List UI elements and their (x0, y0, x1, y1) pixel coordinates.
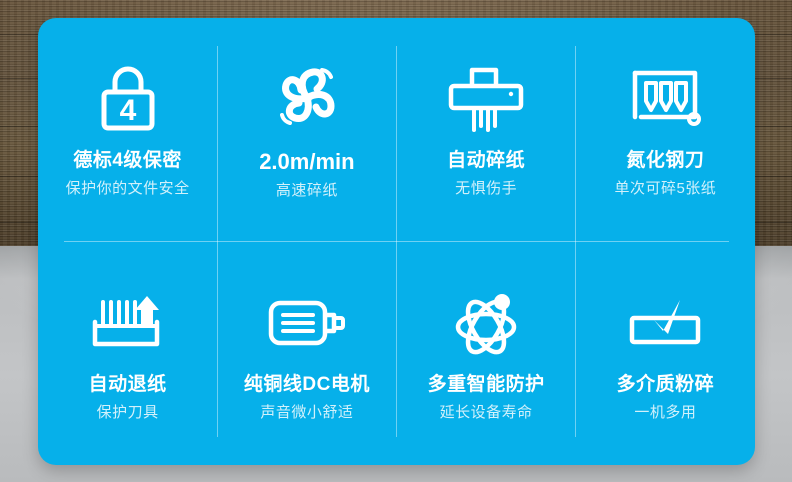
feature-subtitle: 无惧伤手 (455, 180, 517, 198)
lock-level4-icon: 4 (93, 55, 163, 143)
feature-title: 纯铜线DC电机 (244, 373, 370, 397)
feature-cell-blades[interactable]: 氮化钢刀 单次可碎5张纸 (576, 18, 755, 242)
paper-eject-icon (87, 279, 169, 367)
feature-cell-security[interactable]: 4 德标4级保密 保护你的文件安全 (38, 18, 217, 242)
features-panel: 4 德标4级保密 保护你的文件安全 (38, 18, 755, 465)
feature-cell-paper-eject[interactable]: 自动退纸 保护刀具 (38, 242, 217, 466)
feature-banner: 4 德标4级保密 保护你的文件安全 (0, 0, 792, 482)
feature-subtitle: 单次可碎5张纸 (614, 180, 716, 198)
feature-subtitle: 保护刀具 (97, 404, 159, 422)
feature-title: 德标4级保密 (73, 149, 182, 173)
dc-motor-icon (265, 279, 349, 367)
feature-subtitle: 一机多用 (634, 404, 696, 422)
multi-media-slot-icon (624, 279, 706, 367)
feature-cell-protection[interactable]: 多重智能防护 延长设备寿命 (397, 242, 576, 466)
svg-text:4: 4 (119, 94, 136, 127)
feature-title: 多介质粉碎 (617, 373, 715, 397)
feature-subtitle: 保护你的文件安全 (66, 180, 190, 198)
feature-title: 自动退纸 (89, 373, 167, 397)
feature-title: 多重智能防护 (428, 373, 545, 397)
feature-cell-auto-shred[interactable]: 自动碎纸 无惧伤手 (397, 18, 576, 242)
fan-speed-icon (269, 54, 345, 142)
steel-blades-icon (627, 55, 703, 143)
feature-cell-motor[interactable]: 纯铜线DC电机 声音微小舒适 (217, 242, 396, 466)
feature-title: 自动碎纸 (447, 149, 525, 173)
feature-cell-multimedia[interactable]: 多介质粉碎 一机多用 (576, 242, 755, 466)
feature-title: 2.0m/min (259, 148, 354, 176)
feature-cell-speed[interactable]: 2.0m/min 高速碎纸 (217, 18, 396, 242)
feature-title: 氮化钢刀 (626, 149, 704, 173)
grid-divider-horizontal (64, 241, 729, 242)
shredder-icon (445, 55, 527, 143)
feature-subtitle: 高速碎纸 (276, 182, 338, 200)
feature-subtitle: 延长设备寿命 (440, 404, 533, 422)
feature-subtitle: 声音微小舒适 (260, 404, 353, 422)
atom-protection-icon (448, 279, 524, 367)
